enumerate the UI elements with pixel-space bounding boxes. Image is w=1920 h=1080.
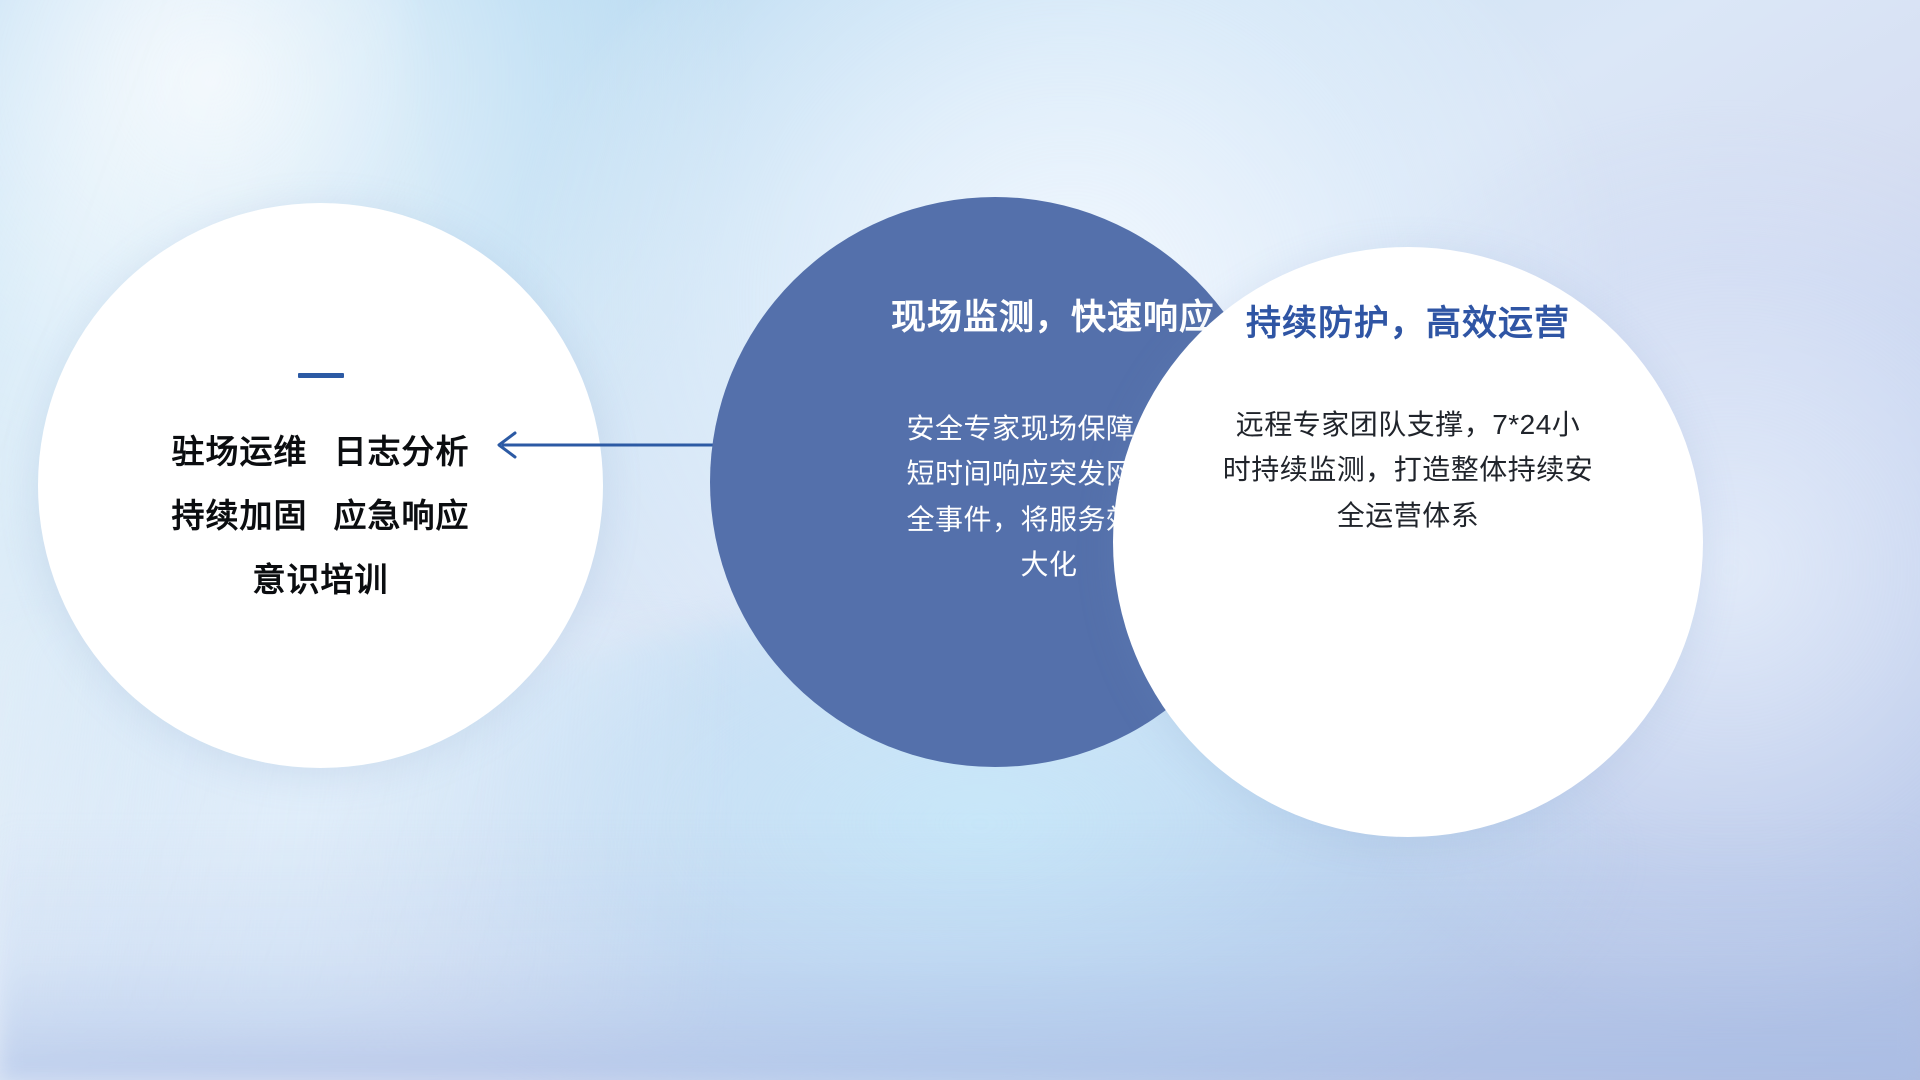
- capability-label: 日志分析: [334, 433, 470, 470]
- card-continuous-protection[interactable]: 持续防护，高效运营 远程专家团队支撑，7*24小时持续监测，打造整体持续安全运营…: [1113, 247, 1703, 837]
- capability-row: 持续加固应急响应: [172, 498, 470, 534]
- capability-row: 驻场运维日志分析: [172, 434, 470, 470]
- slide-canvas: 驻场运维日志分析 持续加固应急响应 意识培训 现场监测，快速响应 安全专家现场保…: [0, 0, 1920, 1080]
- capability-label: 驻场运维: [172, 433, 308, 470]
- divider-dash: [298, 373, 344, 378]
- card-continuous-protection-body: 远程专家团队支撑，7*24小时持续监测，打造整体持续安全运营体系: [1222, 402, 1594, 538]
- arrow-left-icon: [488, 420, 728, 470]
- card-continuous-protection-content: 持续防护，高效运营 远程专家团队支撑，7*24小时持续监测，打造整体持续安全运营…: [1113, 247, 1703, 837]
- background-haze-bottom: [0, 820, 1920, 1080]
- capability-row: 意识培训: [253, 562, 389, 598]
- capability-label: 持续加固: [172, 497, 308, 534]
- capability-list: 驻场运维日志分析 持续加固应急响应 意识培训: [172, 434, 470, 599]
- card-continuous-protection-title: 持续防护，高效运营: [1246, 295, 1570, 346]
- capability-label: 应急响应: [334, 497, 470, 534]
- card-capabilities[interactable]: 驻场运维日志分析 持续加固应急响应 意识培训: [38, 203, 603, 768]
- capability-label: 意识培训: [253, 561, 389, 598]
- card-capabilities-content: 驻场运维日志分析 持续加固应急响应 意识培训: [38, 203, 603, 768]
